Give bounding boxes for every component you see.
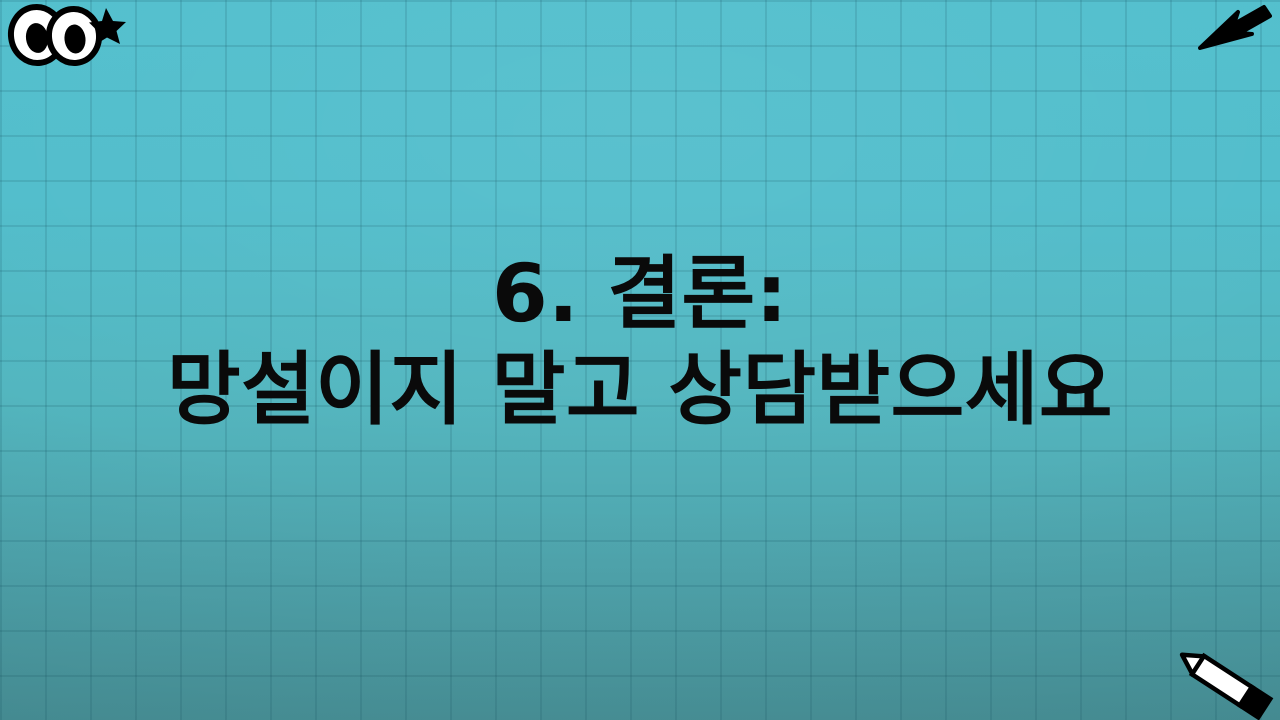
slide-title-line-2: 망설이지 말고 상담받으세요 (0, 342, 1280, 438)
arrow-cursor-decoration (1198, 4, 1272, 56)
slide-title: 6. 결론: 망설이지 말고 상담받으세요 (0, 246, 1280, 438)
googly-eyes-icon (6, 2, 126, 68)
pencil-decoration (1168, 644, 1280, 720)
slide-canvas: 6. 결론: 망설이지 말고 상담받으세요 (0, 0, 1280, 720)
slide-title-line-1: 6. 결론: (0, 246, 1280, 342)
arrow-cursor-icon (1198, 4, 1272, 56)
googly-eyes-decoration (6, 2, 126, 68)
pencil-icon (1168, 644, 1280, 720)
